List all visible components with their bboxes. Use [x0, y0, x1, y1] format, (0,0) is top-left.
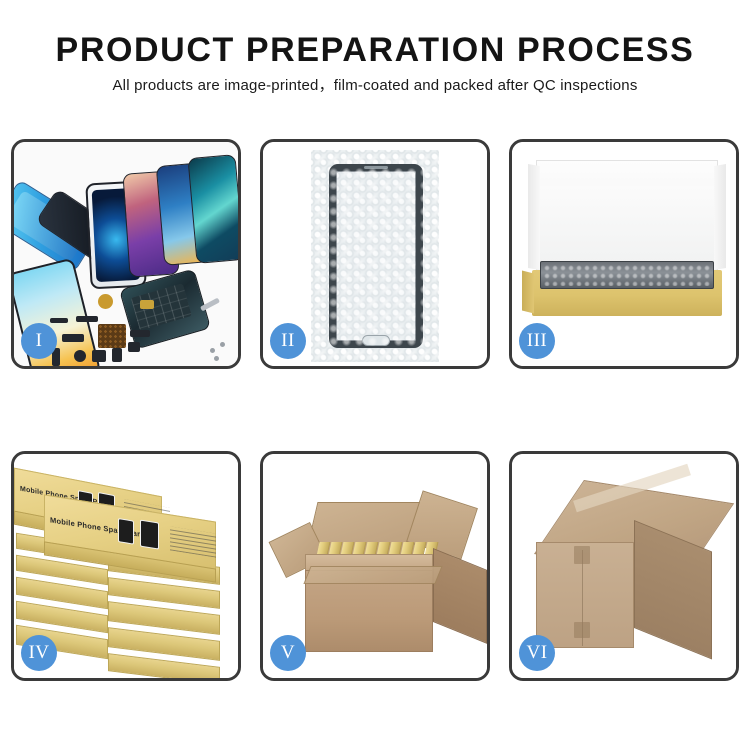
- process-step-panel-1: I: [11, 139, 241, 369]
- box-phone-artwork: [140, 520, 159, 550]
- step-badge-4: IV: [21, 635, 57, 671]
- camera-ring-part: [98, 294, 113, 309]
- page-header: PRODUCT PREPARATION PROCESS All products…: [0, 30, 750, 96]
- earpiece-part: [92, 350, 106, 362]
- home-button: [362, 335, 390, 346]
- step-badge-6: VI: [519, 635, 555, 671]
- carton-flap-tab: [574, 622, 590, 638]
- screw-part: [214, 356, 219, 361]
- antenna-strip-part: [50, 318, 68, 323]
- bubble-wrap-sheet: [311, 150, 439, 362]
- vibration-motor-part: [74, 350, 86, 362]
- carton-side-face: [433, 548, 487, 644]
- step-badge-1: I: [21, 323, 57, 359]
- button-flex-part: [140, 300, 154, 309]
- battery-connector-part: [112, 348, 122, 362]
- camera-module-part: [128, 342, 140, 352]
- screw-part: [210, 348, 215, 353]
- process-step-panel-3: III: [509, 139, 739, 369]
- box-phone-artwork: [118, 518, 134, 545]
- step-badge-3: III: [519, 323, 555, 359]
- teal-wave-screen: [187, 154, 238, 264]
- process-step-panel-5: V: [260, 451, 490, 681]
- page-subtitle: All products are image-printed，film-coat…: [0, 76, 750, 96]
- carton-front-flap: [303, 566, 442, 584]
- step-badge-2: II: [270, 323, 306, 359]
- kraft-box-tray: [532, 270, 722, 316]
- wrapped-screen-in-box: [540, 261, 714, 289]
- page-title: PRODUCT PREPARATION PROCESS: [0, 30, 750, 70]
- process-step-panel-4: Mobile Phone Spare Parts Mobile Phone Sp…: [11, 451, 241, 681]
- process-step-panel-2: II: [260, 139, 490, 369]
- phone-glass-panel: [329, 164, 423, 348]
- process-steps-grid: I II III: [11, 139, 739, 681]
- step-badge-5: V: [270, 635, 306, 671]
- charging-port-part: [130, 330, 150, 337]
- speaker-part: [76, 316, 98, 322]
- carton-flap-tab: [574, 546, 590, 564]
- process-step-panel-6: VI: [509, 451, 739, 681]
- product-preparation-process-page: PRODUCT PREPARATION PROCESS All products…: [0, 0, 750, 750]
- screw-part: [220, 342, 225, 347]
- connector-board-part: [98, 324, 126, 348]
- flex-cable-part: [62, 334, 84, 342]
